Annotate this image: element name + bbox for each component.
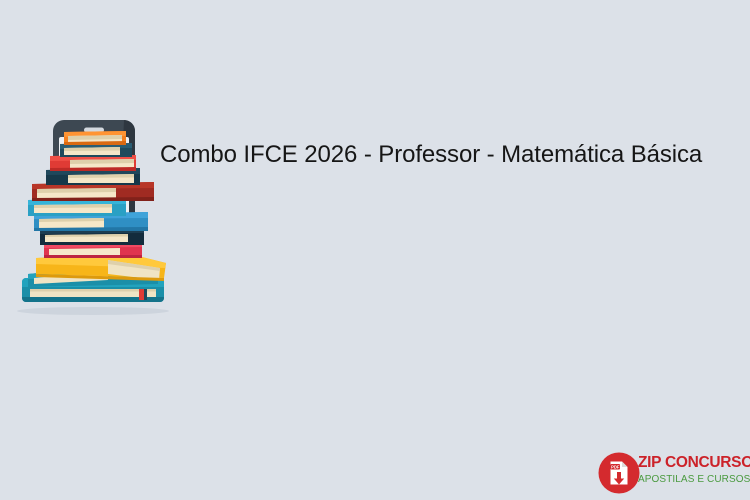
brand-wordmark: ZIP CONCURSOS APOSTILAS E CURSOS [638, 454, 744, 486]
svg-text:PDF: PDF [611, 464, 620, 469]
brand-logo[interactable]: PDF ZIP CONCURSOS APOSTILAS E CURSOS [598, 450, 744, 496]
product-banner: Combo IFCE 2026 - Professor - Matemática… [0, 0, 750, 500]
pdf-download-icon: PDF [598, 452, 640, 494]
book-red [50, 155, 136, 171]
ground-shadow [17, 307, 169, 315]
brand-name: ZIP CONCURSOS [638, 454, 744, 472]
book-bookmark-red [139, 289, 144, 300]
brand-tagline: APOSTILAS E CURSOS [638, 473, 744, 486]
page-title: Combo IFCE 2026 - Professor - Matemática… [160, 139, 720, 171]
stack-of-books-with-tablet-illustration [8, 108, 178, 318]
book-yellow [36, 254, 166, 281]
book-navy-top [60, 143, 132, 157]
book-orange-top [64, 131, 126, 145]
